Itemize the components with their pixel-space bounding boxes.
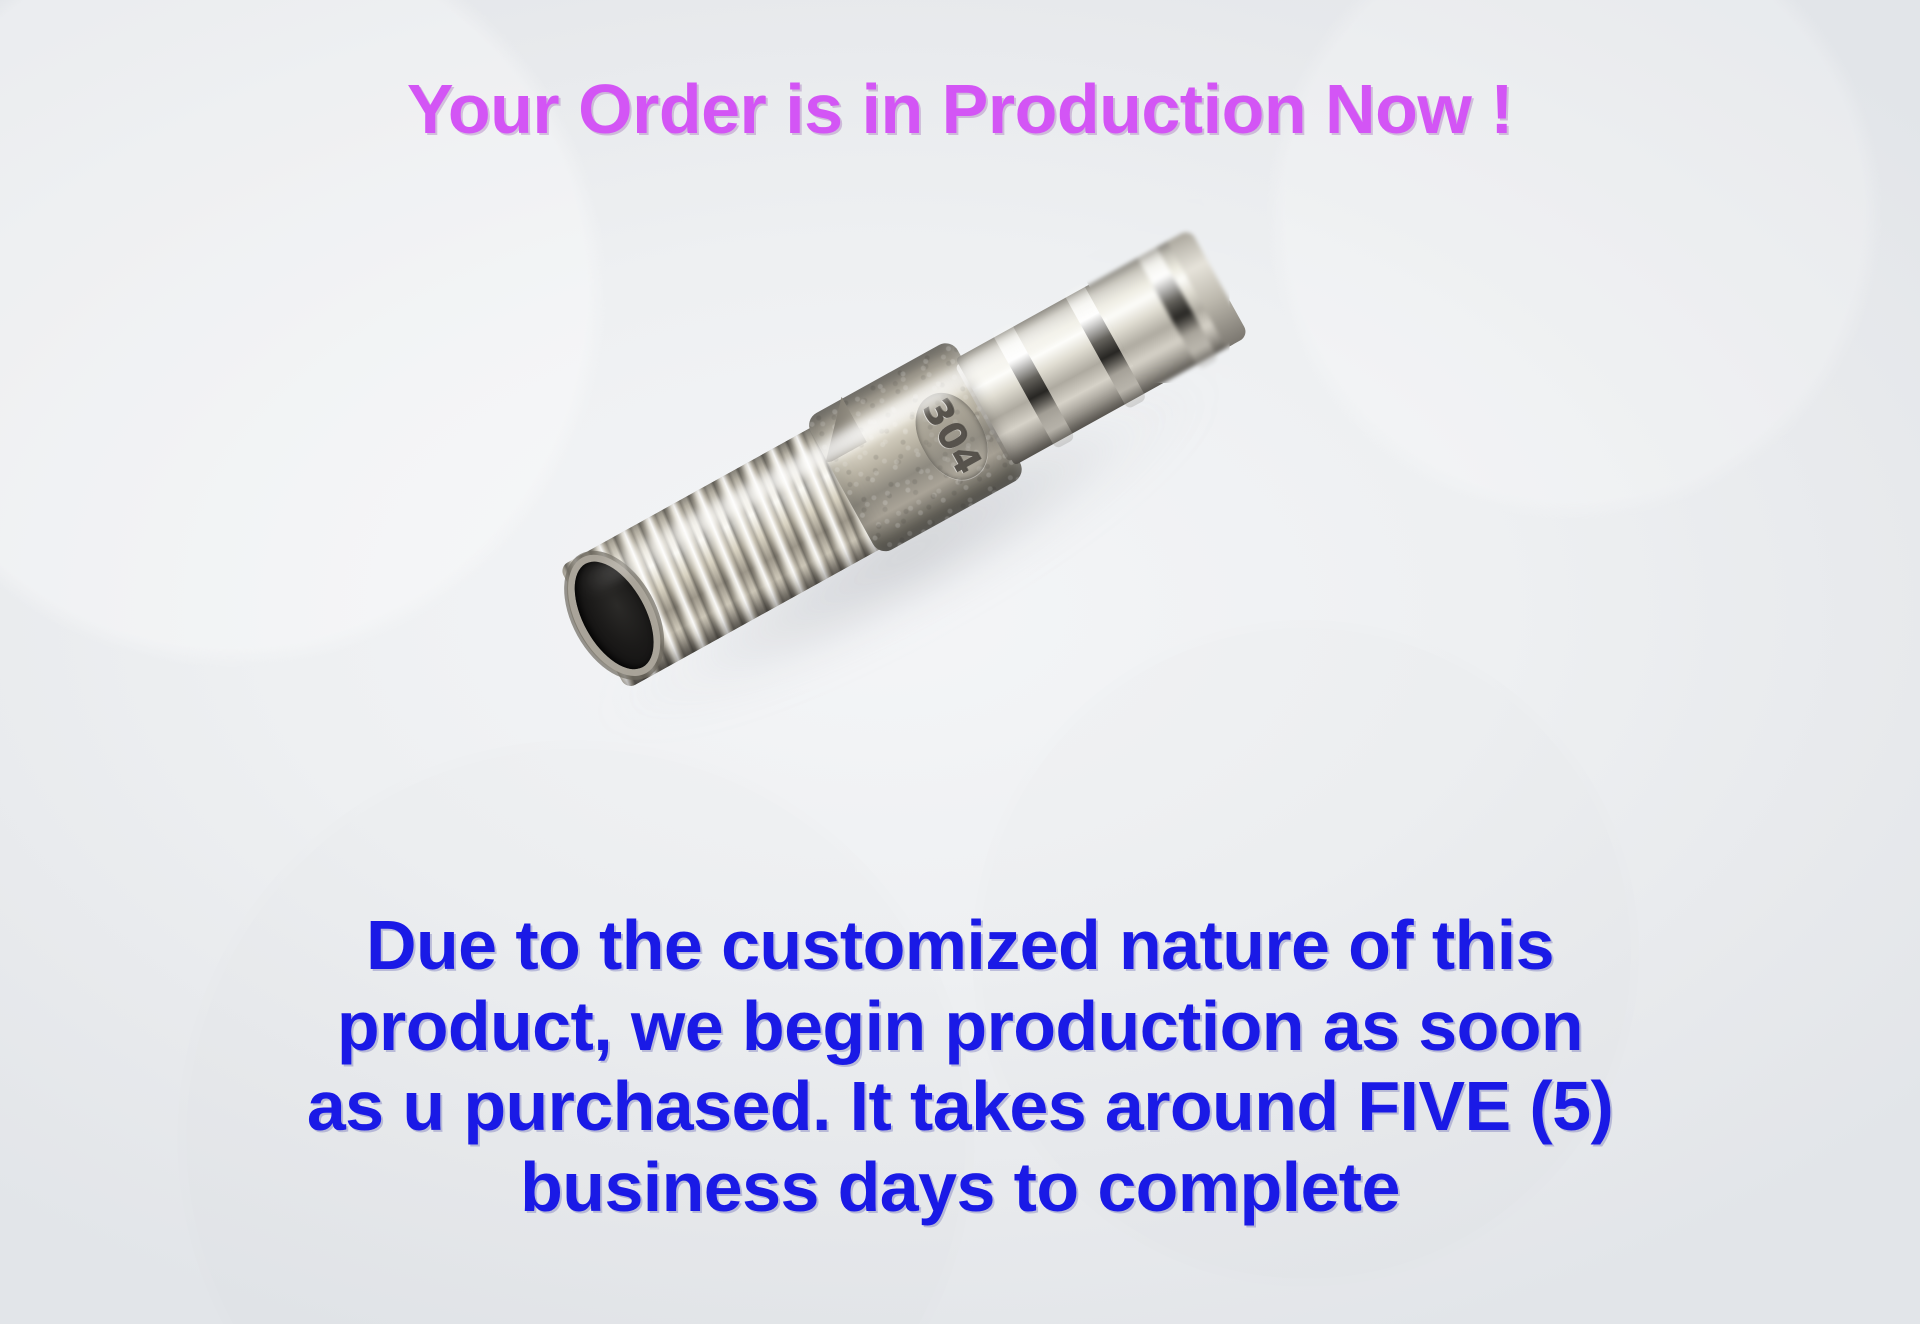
- notice-line-4: business days to complete: [120, 1147, 1800, 1228]
- notice-line-2: product, we begin production as soon: [120, 986, 1800, 1067]
- notice-line-3: as u purchased. It takes around FIVE (5): [120, 1066, 1800, 1147]
- product-photo: 304: [560, 300, 1380, 860]
- headline-text: Your Order is in Production Now !: [0, 74, 1920, 144]
- promo-image-canvas: Your Order is in Production Now ! 304: [0, 0, 1920, 1324]
- notice-line-1: Due to the customized nature of this: [120, 905, 1800, 986]
- production-notice-text: Due to the customized nature of this pro…: [120, 905, 1800, 1227]
